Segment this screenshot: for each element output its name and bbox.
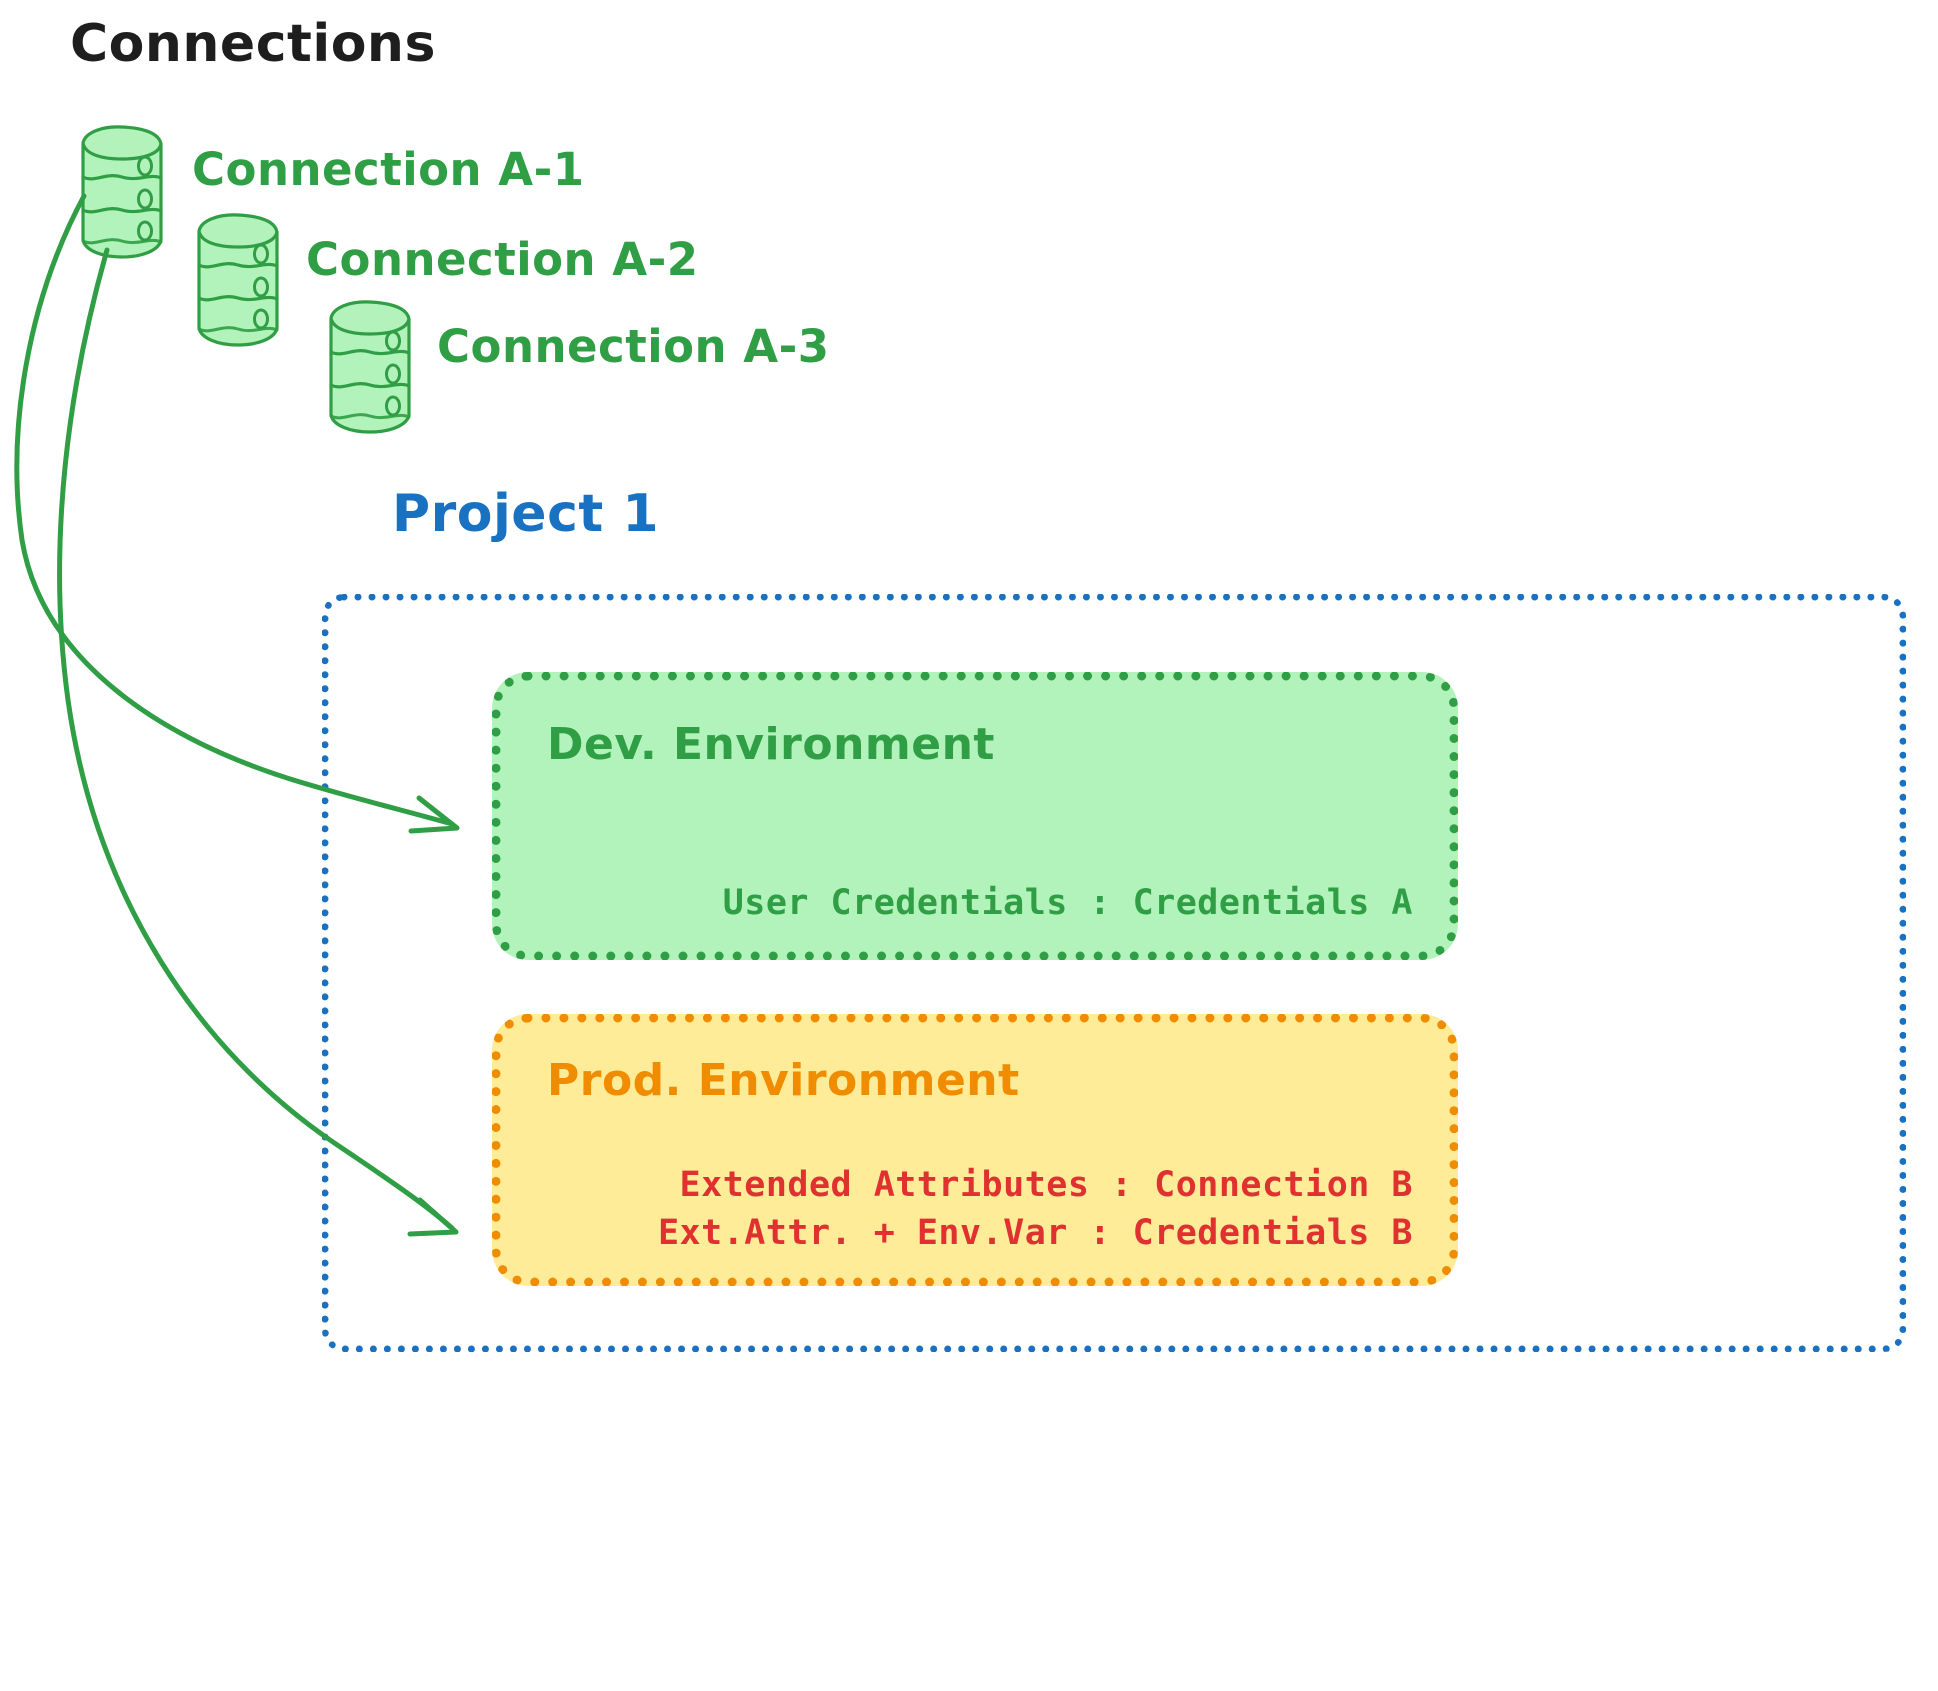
connection-label-a-3: Connection A-3 bbox=[437, 320, 830, 373]
environment-box-dev[interactable]: Dev. Environment User Credentials : Cred… bbox=[492, 672, 1458, 960]
database-icon-connection-a-1 bbox=[83, 127, 161, 257]
environment-property-line: User Credentials : Credentials A bbox=[723, 879, 1413, 927]
database-icon-connection-a-3 bbox=[331, 302, 409, 432]
diagram-canvas: Connections bbox=[0, 0, 1938, 1691]
environment-property-line: Ext.Attr. + Env.Var : Credentials B bbox=[658, 1209, 1413, 1257]
environment-title-dev: Dev. Environment bbox=[547, 719, 995, 770]
environment-box-prod[interactable]: Prod. Environment Extended Attributes : … bbox=[492, 1014, 1458, 1286]
environment-properties-prod: Extended Attributes : Connection B Ext.A… bbox=[658, 1161, 1413, 1257]
environment-title-prod: Prod. Environment bbox=[547, 1055, 1020, 1106]
connection-label-a-1: Connection A-1 bbox=[192, 143, 585, 196]
project-title: Project 1 bbox=[392, 484, 659, 544]
environment-properties-dev: User Credentials : Credentials A bbox=[723, 879, 1413, 927]
database-icon-connection-a-2 bbox=[199, 215, 277, 345]
connection-label-a-2: Connection A-2 bbox=[306, 233, 699, 286]
environment-property-line: Extended Attributes : Connection B bbox=[658, 1161, 1413, 1209]
